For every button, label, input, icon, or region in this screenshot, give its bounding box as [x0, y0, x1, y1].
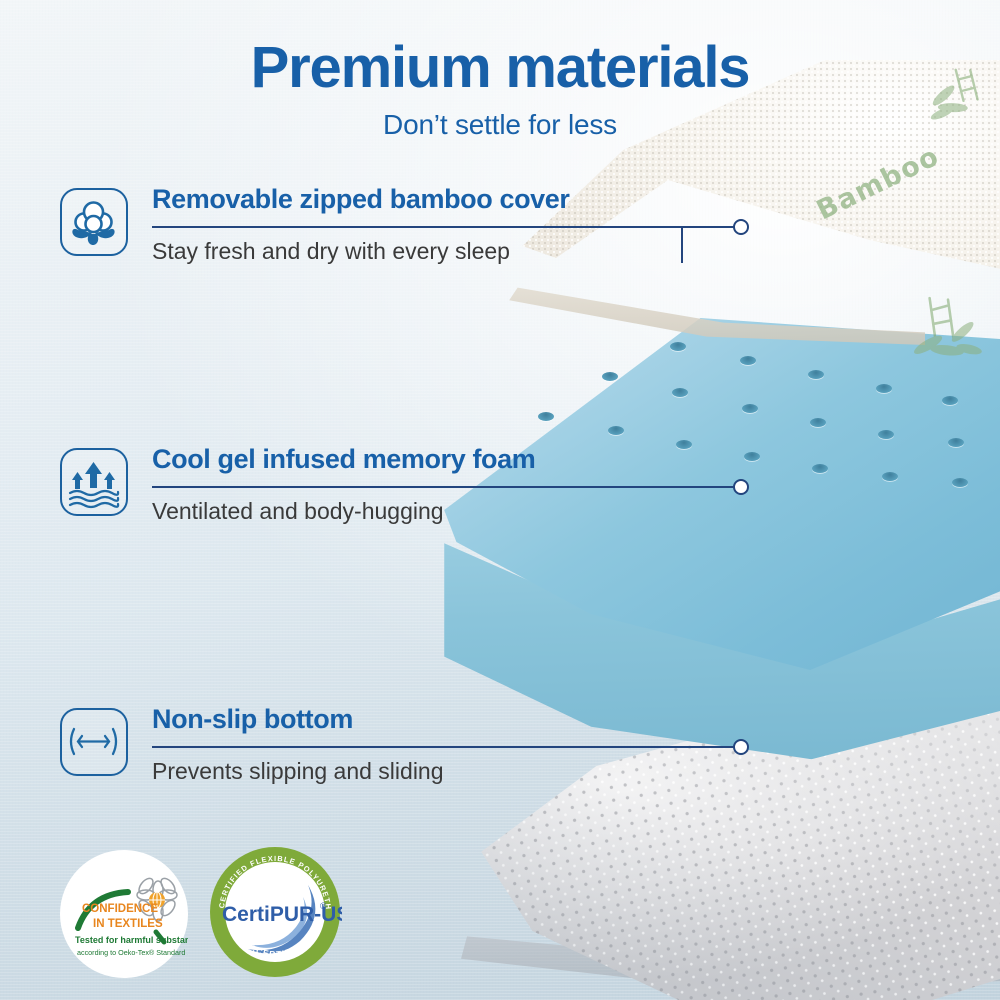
- header: Premium materials Don’t settle for less: [0, 38, 1000, 141]
- ventilation-hole: [878, 430, 894, 439]
- ventilation-hole: [952, 478, 968, 487]
- leader-endpoint-dot: [733, 479, 749, 495]
- ventilation-hole: [812, 464, 828, 473]
- horizontal-arrows-icon-box: [60, 708, 128, 776]
- page-title: Premium materials: [0, 38, 1000, 97]
- ventilation-hole: [942, 396, 958, 405]
- ventilation-hole: [670, 342, 686, 351]
- oeko-line1: CONFIDENCE: [82, 903, 158, 915]
- ventilation-hole: [742, 404, 758, 413]
- feature-divider: [152, 746, 741, 748]
- ventilation-hole: [876, 384, 892, 393]
- oeko-line4: according to Oeko-Tex® Standard 100: [77, 948, 188, 957]
- feature-heading: Non-slip bottom: [152, 704, 353, 735]
- ventilation-hole: [948, 438, 964, 447]
- feature-divider: [152, 226, 741, 228]
- leader-endpoint-dot: [733, 739, 749, 755]
- feature-divider: [152, 486, 741, 488]
- ventilation-hole: [810, 418, 826, 427]
- ventilation-hole: [676, 440, 692, 449]
- ventilation-hole: [538, 412, 554, 421]
- feature-subheading: Stay fresh and dry with every sleep: [152, 238, 510, 265]
- page-subtitle: Don’t settle for less: [0, 109, 1000, 141]
- leader-line-vertical-cover: [681, 228, 683, 263]
- bamboo-leaf-icon: [899, 284, 997, 386]
- ventilation-hole: [740, 356, 756, 365]
- oeko-line3: Tested for harmful substances: [75, 935, 188, 945]
- ventilation-hole: [608, 426, 624, 435]
- airflow-waves-icon-box: [60, 448, 128, 516]
- leader-endpoint-dot: [733, 219, 749, 235]
- feature-heading: Removable zipped bamboo cover: [152, 184, 570, 215]
- ventilation-hole: [672, 388, 688, 397]
- ventilation-hole: [602, 372, 618, 381]
- certipur-us-badge: CertiPUR-US ® CONTAINS CERTIFIED FLEXIBL…: [208, 845, 342, 979]
- cotton-boll-icon-box: [60, 188, 128, 256]
- oeko-line2: IN TEXTILES: [93, 918, 163, 930]
- feature-subheading: Ventilated and body-hugging: [152, 498, 444, 525]
- feature-subheading: Prevents slipping and sliding: [152, 758, 444, 785]
- ventilation-hole: [882, 472, 898, 481]
- ventilation-hole: [808, 370, 824, 379]
- product-infographic: Bamboo: [0, 0, 1000, 1000]
- oeko-tex-badge: CONFIDENCE IN TEXTILES Tested for harmfu…: [60, 850, 188, 978]
- ventilation-hole: [744, 452, 760, 461]
- feature-heading: Cool gel infused memory foam: [152, 444, 535, 475]
